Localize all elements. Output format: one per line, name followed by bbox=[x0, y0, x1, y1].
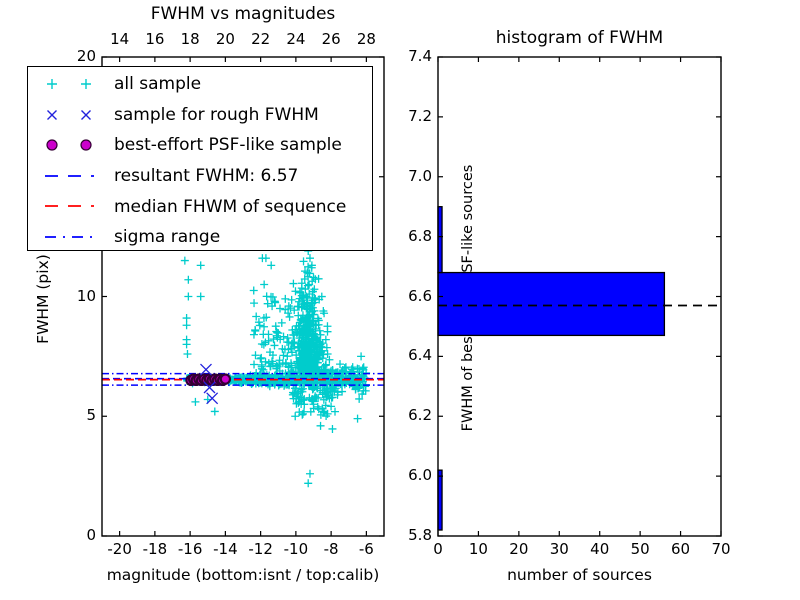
cross-icon bbox=[34, 100, 112, 131]
right-y-tick-7: 7.2 bbox=[386, 107, 432, 125]
left-bottom-tick-3: -14 bbox=[205, 540, 245, 558]
right-y-tick-8: 7.4 bbox=[386, 47, 432, 65]
figure-canvas: FWHM vs magnitudes 1416182022242628 -20-… bbox=[0, 0, 800, 600]
legend-label-4: median FHWM of sequence bbox=[112, 197, 346, 217]
right-y-tick-4: 6.6 bbox=[386, 287, 432, 305]
right-y-tick-5: 6.8 bbox=[386, 227, 432, 245]
plus-icon bbox=[34, 69, 112, 100]
histogram-bar-2 bbox=[438, 207, 442, 273]
left-top-tick-1: 16 bbox=[138, 30, 172, 48]
left-top-tick-6: 26 bbox=[314, 30, 348, 48]
left-top-tick-3: 20 bbox=[208, 30, 242, 48]
legend-label-2: best-effort PSF-like sample bbox=[112, 135, 342, 155]
right-y-tick-6: 7.0 bbox=[386, 167, 432, 185]
legend-item-2[interactable]: best-effort PSF-like sample bbox=[34, 130, 366, 161]
left-top-tick-5: 24 bbox=[279, 30, 313, 48]
left-y-tick-0: 0 bbox=[62, 526, 96, 544]
dashed-line-icon bbox=[34, 161, 112, 192]
left-panel-title: FWHM vs magnitudes bbox=[102, 4, 384, 24]
left-bottom-tick-4: -12 bbox=[241, 540, 281, 558]
legend-label-1: sample for rough FWHM bbox=[112, 105, 319, 125]
right-y-tick-3: 6.4 bbox=[386, 346, 432, 364]
legend-item-1[interactable]: sample for rough FWHM bbox=[34, 100, 366, 131]
legend-label-3: resultant FWHM: 6.57 bbox=[112, 166, 298, 186]
right-x-tick-2: 20 bbox=[502, 540, 536, 558]
right-ylabel: FWHM of best-effort PSF-like sources bbox=[460, 58, 476, 538]
left-bottom-tick-5: -10 bbox=[276, 540, 316, 558]
right-x-tick-5: 50 bbox=[623, 540, 657, 558]
right-x-tick-7: 70 bbox=[704, 540, 738, 558]
left-bottom-tick-0: -20 bbox=[100, 540, 140, 558]
dashdot-line-icon bbox=[34, 222, 112, 253]
legend-item-0[interactable]: all sample bbox=[34, 69, 366, 100]
right-y-tick-0: 5.8 bbox=[386, 526, 432, 544]
right-xlabel: number of sources bbox=[438, 566, 721, 584]
right-x-tick-1: 10 bbox=[461, 540, 495, 558]
right-x-tick-6: 60 bbox=[664, 540, 698, 558]
left-bottom-tick-6: -8 bbox=[311, 540, 351, 558]
left-y-tick-2: 10 bbox=[62, 287, 96, 305]
left-xlabel: magnitude (bottom:isnt / top:calib) bbox=[102, 566, 384, 584]
right-x-tick-4: 40 bbox=[583, 540, 617, 558]
left-bottom-tick-2: -16 bbox=[170, 540, 210, 558]
histogram-bar-0 bbox=[438, 470, 442, 530]
right-panel-title: histogram of FWHM bbox=[438, 28, 721, 48]
circle-icon bbox=[34, 130, 112, 161]
left-bottom-tick-7: -6 bbox=[346, 540, 386, 558]
left-y-tick-1: 5 bbox=[62, 406, 96, 424]
legend-label-5: sigma range bbox=[112, 227, 220, 247]
legend-item-4[interactable]: median FHWM of sequence bbox=[34, 191, 366, 222]
left-top-tick-0: 14 bbox=[103, 30, 137, 48]
legend-label-0: all sample bbox=[112, 74, 201, 94]
legend-item-5[interactable]: sigma range bbox=[34, 222, 366, 253]
left-y-tick-3: 20 bbox=[62, 47, 96, 65]
dashed-line-icon bbox=[34, 191, 112, 222]
right-y-tick-1: 6.0 bbox=[386, 466, 432, 484]
left-top-tick-4: 22 bbox=[244, 30, 278, 48]
left-top-tick-2: 18 bbox=[173, 30, 207, 48]
right-x-tick-3: 30 bbox=[542, 540, 576, 558]
legend-item-3[interactable]: resultant FWHM: 6.57 bbox=[34, 161, 366, 192]
right-y-tick-2: 6.2 bbox=[386, 406, 432, 424]
left-bottom-tick-1: -18 bbox=[135, 540, 175, 558]
left-top-tick-7: 28 bbox=[349, 30, 383, 48]
legend: all samplesample for rough FWHMbest-effo… bbox=[27, 66, 373, 251]
